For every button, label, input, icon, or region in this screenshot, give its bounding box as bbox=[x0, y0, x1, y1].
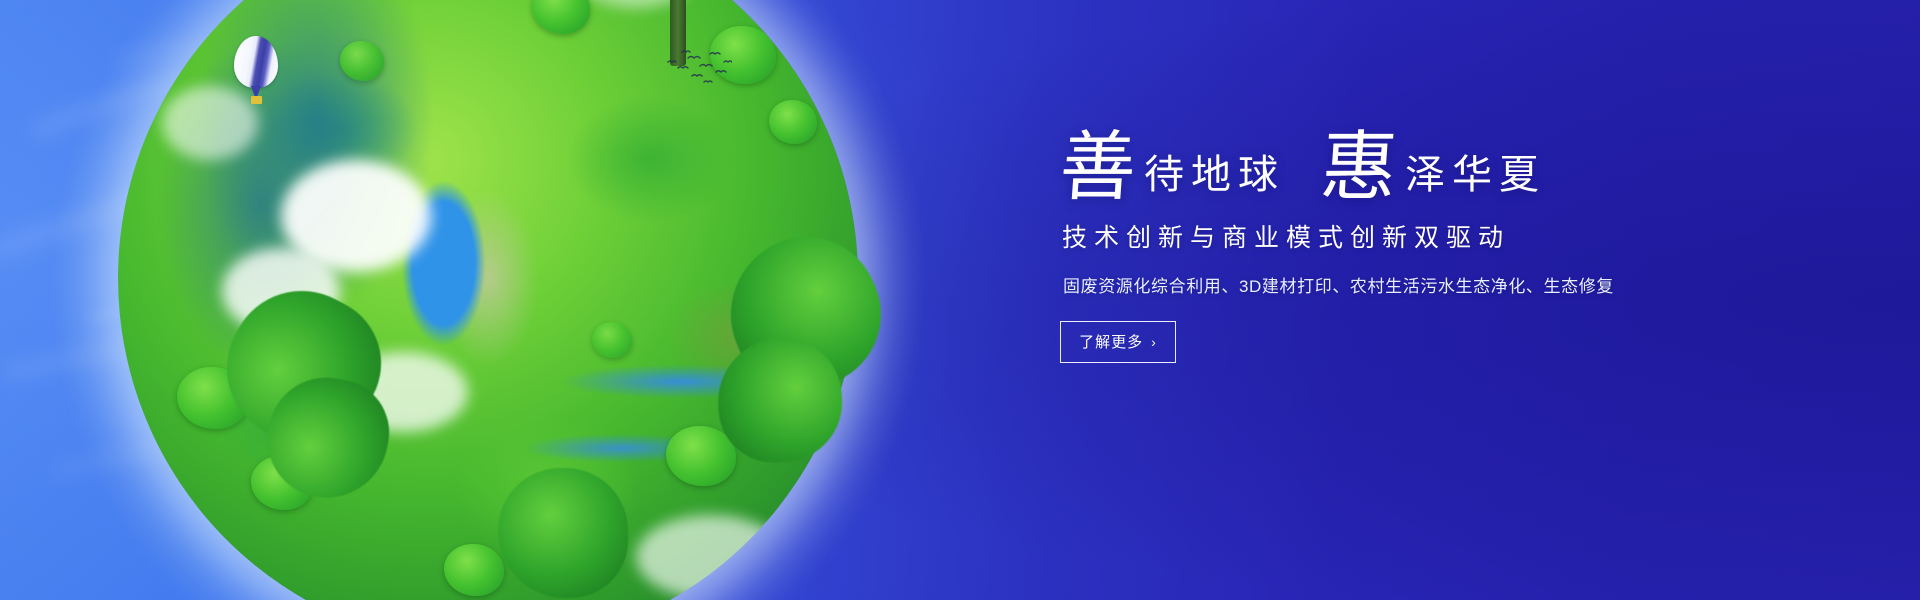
learn-more-label: 了解更多 bbox=[1079, 331, 1143, 352]
balloon-basket bbox=[251, 96, 262, 104]
page-title: 善 待地球 惠 泽华夏 bbox=[1060, 132, 1680, 202]
hero-subtitle: 技术创新与商业模式创新双驱动 bbox=[1062, 218, 1680, 254]
headline-rest-1: 待地球 bbox=[1144, 155, 1285, 202]
balloon-neck bbox=[251, 86, 261, 96]
globe-illustration bbox=[118, 0, 858, 600]
headline-phrase-1: 善 待地球 bbox=[1060, 132, 1285, 202]
learn-more-button[interactable]: 了解更多 › bbox=[1060, 321, 1176, 363]
tree-icon bbox=[258, 368, 397, 507]
headline-lead-char-1: 善 bbox=[1058, 132, 1139, 202]
hot-air-balloon bbox=[234, 36, 278, 106]
hero-banner: 善 待地球 惠 泽华夏 技术创新与商业模式创新双驱动 固废资源化综合利用、3D建… bbox=[0, 0, 1920, 600]
chevron-right-icon: › bbox=[1151, 334, 1157, 350]
large-tree bbox=[578, 0, 788, 40]
tree-icon bbox=[769, 100, 817, 144]
headline-lead-char-2: 惠 bbox=[1319, 132, 1400, 202]
headline-phrase-2: 惠 泽华夏 bbox=[1321, 132, 1546, 202]
hero-content: 善 待地球 惠 泽华夏 技术创新与商业模式创新双驱动 固废资源化综合利用、3D建… bbox=[1060, 132, 1680, 363]
tree-icon bbox=[714, 334, 846, 466]
tree-icon bbox=[340, 41, 384, 81]
headline-rest-2: 泽华夏 bbox=[1405, 155, 1546, 202]
cloud-puff bbox=[636, 515, 786, 599]
balloon-envelope bbox=[234, 36, 278, 88]
bird-flock-icon bbox=[592, 44, 732, 94]
hero-description: 固废资源化综合利用、3D建材打印、农村生活污水生态净化、生态修复 bbox=[1063, 272, 1680, 297]
tree-icon bbox=[498, 468, 628, 598]
